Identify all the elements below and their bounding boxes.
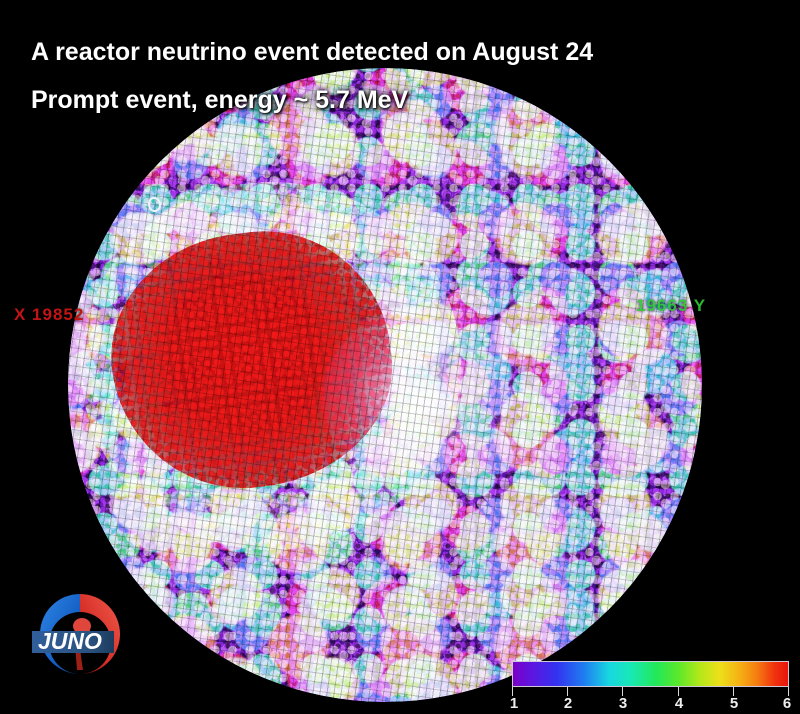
- juno-detector-event-display[interactable]: [68, 68, 702, 702]
- logo-text: JUNO: [38, 628, 102, 654]
- sphere-limb-shading: [68, 68, 702, 702]
- juno-logo[interactable]: JUNO: [28, 588, 132, 680]
- colorbar-label-1: 1: [510, 695, 518, 712]
- highlighted-pmt-marker[interactable]: [148, 197, 161, 212]
- colorbar-label-3: 3: [619, 695, 627, 712]
- charge-colorbar: 1 2 3 4 5 6: [512, 661, 789, 714]
- colorbar-label-2: 2: [564, 695, 572, 712]
- axis-x-label: X 19852: [14, 305, 84, 325]
- page-subtitle: Prompt event, energy ~ 5.7 MeV: [31, 76, 593, 124]
- screenshot-root: X 19852 19663 Y A reactor neutrino event…: [0, 0, 800, 714]
- colorbar-label-4: 4: [675, 695, 683, 712]
- page-title: A reactor neutrino event detected on Aug…: [31, 28, 593, 76]
- title-block: A reactor neutrino event detected on Aug…: [31, 28, 593, 124]
- colorbar-label-5: 5: [730, 695, 738, 712]
- colorbar-gradient: [512, 661, 789, 687]
- colorbar-label-6: 6: [783, 695, 791, 712]
- axis-y-label: 19663 Y: [636, 296, 706, 316]
